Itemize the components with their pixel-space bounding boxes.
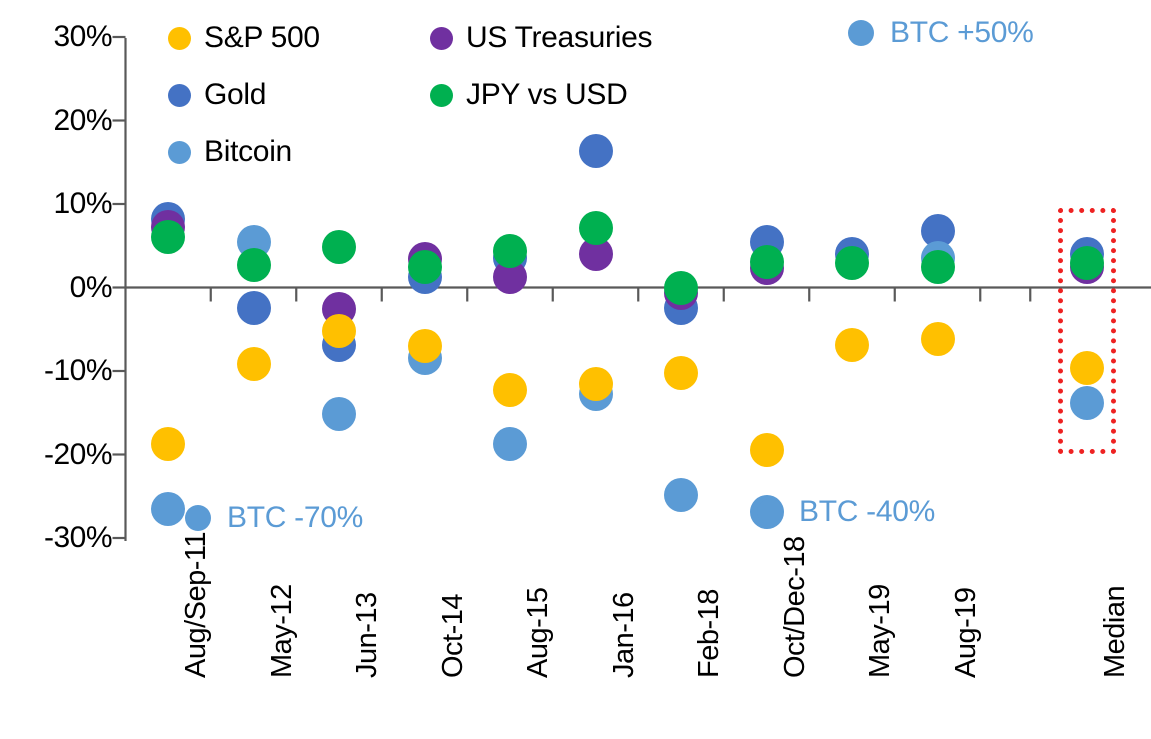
- legend-label: Gold: [204, 78, 266, 112]
- legend-item-jpy-vs-usd[interactable]: JPY vs USD: [430, 78, 628, 112]
- data-point: [493, 234, 527, 268]
- annotation-btc-plus-50: BTC +50%: [848, 16, 1034, 50]
- annotation-label: BTC -70%: [227, 501, 363, 535]
- legend-item-bitcoin[interactable]: Bitcoin: [168, 135, 292, 169]
- legend-swatch-icon: [168, 141, 191, 164]
- data-point: [322, 397, 356, 431]
- median-highlight-box: [1058, 208, 1116, 454]
- data-point: [151, 220, 185, 254]
- data-point: [237, 291, 271, 325]
- annotation-btc-minus-40: BTC -40%: [757, 495, 935, 529]
- annotation-marker-icon: [757, 499, 783, 525]
- x-tick-label: Jan-16: [608, 592, 641, 678]
- legend-label: US Treasuries: [466, 21, 652, 55]
- data-point: [835, 246, 869, 280]
- x-tick-label: Median: [1099, 586, 1132, 678]
- y-tick-label: 10%: [53, 187, 112, 221]
- data-point: [151, 492, 185, 526]
- data-point: [750, 245, 784, 279]
- x-tick-label: Jun-13: [351, 592, 384, 678]
- x-tick-label: May-19: [864, 584, 897, 678]
- data-point: [408, 329, 442, 363]
- legend-swatch-icon: [430, 84, 453, 107]
- data-point: [921, 250, 955, 284]
- data-point: [664, 478, 698, 512]
- x-tick-label: Aug/Sep-11: [180, 532, 213, 678]
- y-tick-marks: [113, 37, 126, 538]
- data-point: [322, 314, 356, 348]
- data-point: [750, 433, 784, 467]
- y-tick-label: -10%: [44, 354, 112, 388]
- legend-item-gold[interactable]: Gold: [168, 78, 266, 112]
- legend-label: Bitcoin: [204, 135, 292, 169]
- y-tick-label: -30%: [44, 521, 112, 555]
- legend-swatch-icon: [168, 84, 191, 107]
- y-tick-label: 0%: [70, 271, 112, 305]
- data-point: [237, 347, 271, 381]
- y-tick-label: 20%: [53, 104, 112, 138]
- data-point: [493, 427, 527, 461]
- data-point: [151, 427, 185, 461]
- annotation-btc-minus-70: BTC -70%: [185, 501, 363, 535]
- data-point: [408, 250, 442, 284]
- legend-label: S&P 500: [204, 21, 320, 55]
- data-point: [579, 134, 613, 168]
- x-tick-label: Oct/Dec-18: [779, 536, 812, 678]
- data-point: [493, 373, 527, 407]
- data-point: [237, 248, 271, 282]
- legend-swatch-icon: [430, 27, 453, 50]
- annotation-marker-icon: [185, 505, 211, 531]
- annotation-label: BTC +50%: [890, 16, 1034, 50]
- y-tick-label: 30%: [53, 20, 112, 54]
- chart-canvas: 30%20%10%0%-10%-20%-30% Aug/Sep-11May-12…: [0, 0, 1151, 739]
- legend-item-us-treasuries[interactable]: US Treasuries: [430, 21, 652, 55]
- x-tick-label: Feb-18: [693, 589, 726, 678]
- legend-swatch-icon: [168, 27, 191, 50]
- x-tick-label: May-12: [266, 584, 299, 678]
- legend-label: JPY vs USD: [466, 78, 628, 112]
- data-point: [579, 367, 613, 401]
- x-tick-label: Oct-14: [437, 594, 470, 678]
- data-point: [921, 322, 955, 356]
- data-point: [322, 230, 356, 264]
- x-tick-label: Aug-19: [950, 587, 983, 678]
- data-point: [579, 211, 613, 245]
- data-point: [835, 328, 869, 362]
- legend-item-s-p-500[interactable]: S&P 500: [168, 21, 320, 55]
- x-tick-label: Aug-15: [522, 587, 555, 678]
- data-point: [664, 356, 698, 390]
- annotation-marker-icon: [848, 20, 874, 46]
- y-tick-label: -20%: [44, 438, 112, 472]
- annotation-label: BTC -40%: [799, 495, 935, 529]
- data-point: [664, 271, 698, 305]
